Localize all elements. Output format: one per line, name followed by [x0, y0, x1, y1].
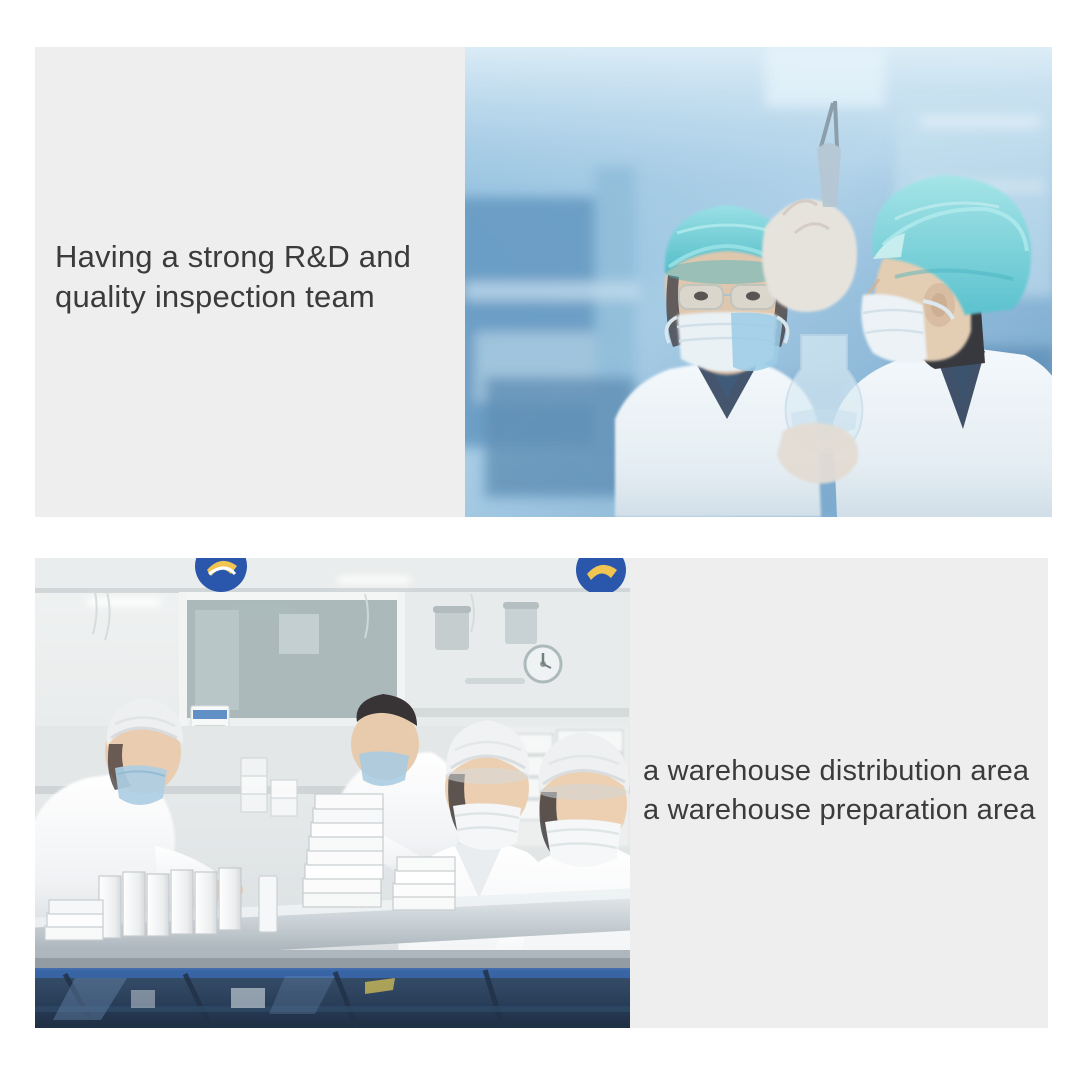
lab-quality-inspection-photo: [465, 47, 1052, 517]
bottom-section-caption: a warehouse distribution area a warehous…: [643, 752, 1043, 830]
warehouse-packing-photo: [35, 558, 630, 1028]
top-section: Having a strong R&D and quality inspecti…: [35, 47, 1048, 517]
page-canvas: Having a strong R&D and quality inspecti…: [0, 0, 1080, 1080]
top-section-caption: Having a strong R&D and quality inspecti…: [55, 237, 455, 316]
warehouse-photo-illustration: [35, 558, 630, 1028]
lab-photo-illustration: [465, 47, 1052, 517]
bottom-section: a warehouse distribution area a warehous…: [35, 558, 1048, 1028]
